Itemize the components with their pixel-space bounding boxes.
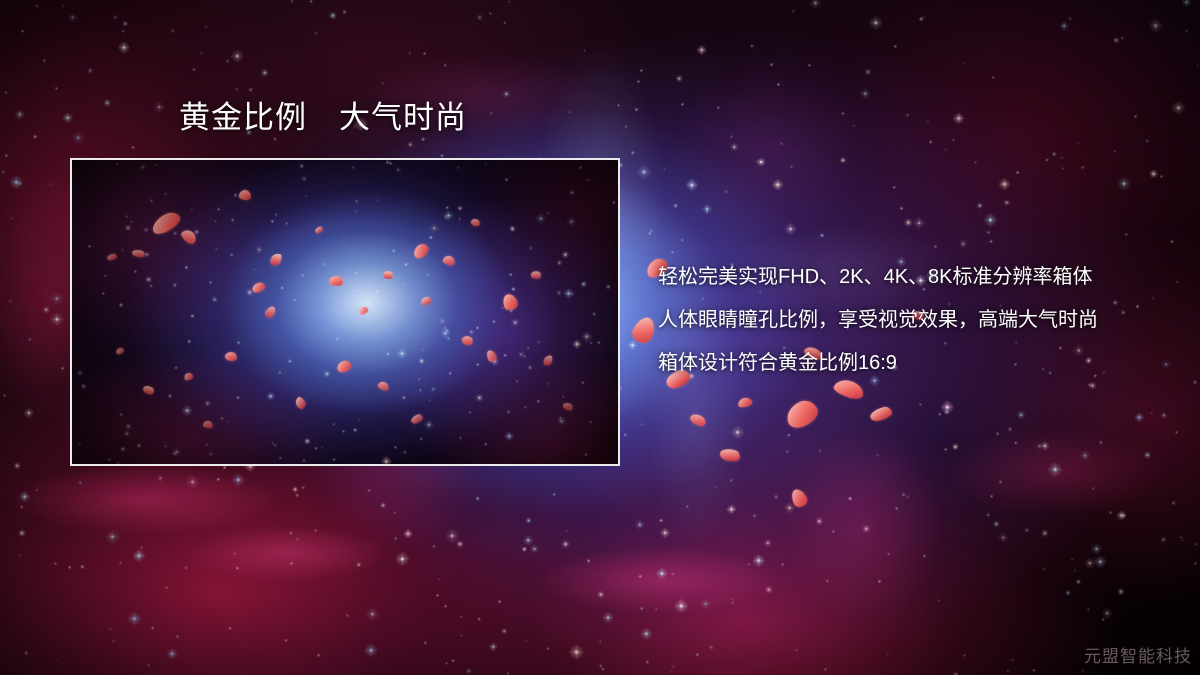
body-line-3: 箱体设计符合黄金比例16:9 [658, 342, 1158, 385]
rose-petal [783, 396, 822, 431]
rose-petal [719, 446, 742, 463]
photo-starfield [72, 160, 618, 464]
body-text-block: 轻松完美实现FHD、2K、4K、8K标准分辨率箱体 人体眼睛瞳孔比例，享受视觉效… [658, 256, 1158, 385]
watermark-label: 元盟智能科技 [1084, 642, 1192, 667]
rose-petal [737, 397, 753, 409]
rose-petal [789, 487, 810, 509]
body-line-2: 人体眼睛瞳孔比例，享受视觉效果，高端大气时尚 [658, 299, 1158, 342]
rose-petal [629, 314, 658, 346]
page-title: 黄金比例 大气时尚 [179, 101, 467, 136]
rose-petal [869, 406, 893, 423]
presentation-slide: 黄金比例 大气时尚 轻松完美实现FHD、2K、4K、8K标准分辨率箱体 人体眼睛… [0, 0, 1200, 675]
body-line-1: 轻松完美实现FHD、2K、4K、8K标准分辨率箱体 [658, 256, 1158, 299]
rose-petal [689, 412, 708, 429]
framed-photo [70, 158, 620, 466]
photo-content [72, 160, 618, 464]
